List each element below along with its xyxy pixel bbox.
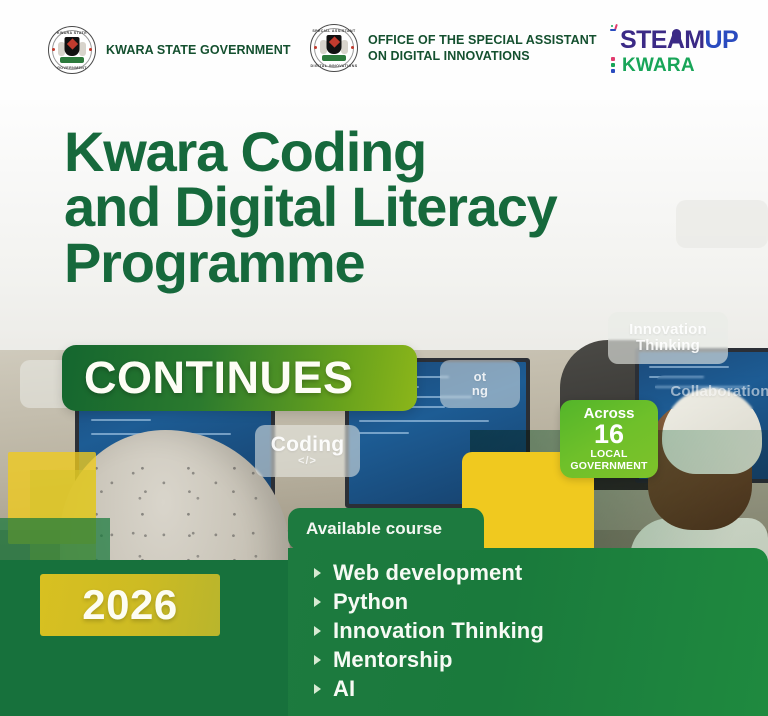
watermark-collaboration-label: Collaboration (670, 384, 768, 400)
logo-office-special-assistant: SPECIAL ASSISTANT DIGITAL INNOVATIONS OF… (310, 24, 597, 72)
course-label: Innovation Thinking (333, 616, 544, 645)
list-item: Web development (310, 558, 768, 587)
arrow-right-icon (314, 626, 321, 636)
courses-panel: Web development Python Innovation Thinki… (288, 548, 768, 716)
year-badge: 2026 (40, 574, 220, 636)
watermark-coding-chip: Coding </> (255, 425, 360, 477)
arrow-right-icon (314, 568, 321, 578)
lightbulb-icon (672, 29, 681, 42)
course-label: Mentorship (333, 645, 453, 674)
poster-canvas: Innovation Thinking Collaboration Coding… (0, 0, 768, 716)
logo-kwara-state-government: KWARA STATE GOVERNMENT KWARA STATE GOVER… (48, 26, 291, 74)
watermark-blank-chip (676, 200, 768, 248)
steamup-kwara-text: KWARA (622, 55, 695, 76)
across-sublabel: LOCAL GOVERNMENT (560, 449, 658, 473)
course-label: Python (333, 587, 408, 616)
across-lga-badge: Across 16 LOCAL GOVERNMENT (560, 400, 658, 478)
watermark-robot-chip: ot ng (440, 360, 520, 408)
course-list: Web development Python Innovation Thinki… (310, 558, 768, 703)
watermark-coding-label: Coding (271, 434, 345, 457)
crest-top-text: KWARA STATE (48, 31, 96, 35)
arrow-right-icon (314, 655, 321, 665)
arrow-right-icon (314, 684, 321, 694)
crest-top-text: SPECIAL ASSISTANT (310, 29, 358, 33)
arrow-right-icon (314, 597, 321, 607)
crest-bottom-text: GOVERNMENT (48, 66, 96, 70)
watermark-innovation-label: Innovation Thinking (629, 322, 707, 354)
dots-icon (611, 57, 617, 73)
list-item: AI (310, 674, 768, 703)
steamup-steam-text: STEAM (620, 26, 705, 54)
course-label: Web development (333, 558, 522, 587)
list-item: Python (310, 587, 768, 616)
nigeria-coat-of-arms-icon: SPECIAL ASSISTANT DIGITAL INNOVATIONS (310, 24, 358, 72)
header-bar: KWARA STATE GOVERNMENT KWARA STATE GOVER… (0, 0, 768, 100)
logo-kwara-state-government-label: KWARA STATE GOVERNMENT (106, 42, 291, 59)
sparkle-icon (610, 24, 626, 40)
list-item: Innovation Thinking (310, 616, 768, 645)
watermark-robot-label: ot ng (472, 370, 488, 398)
nigeria-coat-of-arms-icon: KWARA STATE GOVERNMENT (48, 26, 96, 74)
watermark-innovation-thinking-chip: Innovation Thinking (608, 312, 728, 364)
continues-badge: CONTINUES (62, 345, 417, 411)
available-course-label: Available course (306, 519, 442, 539)
list-item: Mentorship (310, 645, 768, 674)
steamup-wordmark: STEAMUP (610, 28, 730, 53)
course-label: AI (333, 674, 355, 703)
logo-steamup-kwara: STEAMUP KWARA (610, 28, 730, 77)
available-course-tab: Available course (288, 508, 484, 550)
logo-office-special-assistant-label: OFFICE OF THE SPECIAL ASSISTANT ON DIGIT… (368, 32, 597, 65)
page-title: Kwara Coding and Digital Literacy Progra… (64, 124, 557, 290)
crest-bottom-text: DIGITAL INNOVATIONS (310, 64, 358, 68)
watermark-coding-sublabel: </> (298, 456, 317, 468)
steamup-kwara-row: KWARA (610, 55, 730, 77)
continues-label: CONTINUES (84, 352, 354, 404)
watermark-collaboration-chip: Collaboration (655, 375, 768, 409)
steamup-up-text: UP (705, 26, 739, 54)
across-count: 16 (560, 421, 658, 448)
year-label: 2026 (82, 581, 177, 629)
